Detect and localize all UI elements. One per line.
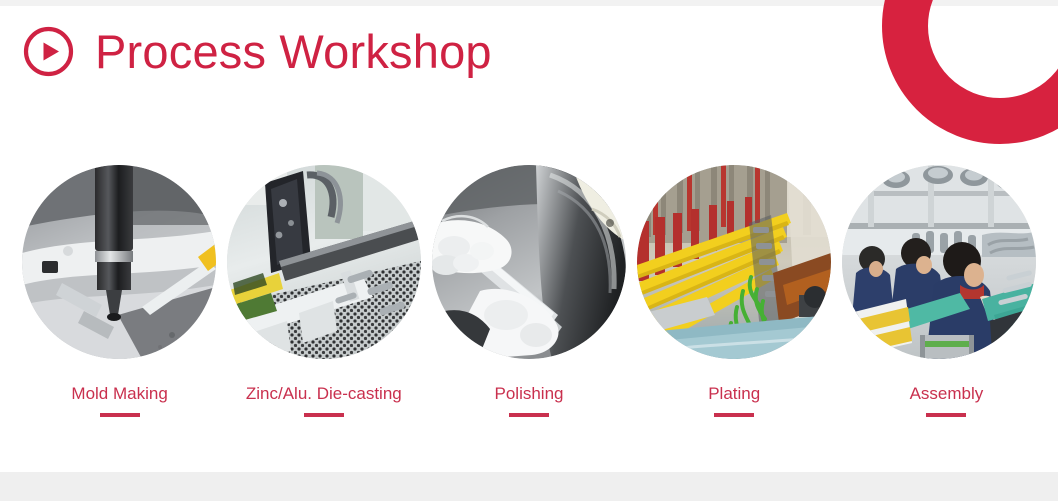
- process-step-underline: [100, 413, 140, 417]
- process-step-label: Plating: [708, 384, 760, 404]
- play-circle-icon[interactable]: [22, 25, 75, 78]
- process-step-assembly[interactable]: Assembly: [837, 165, 1042, 417]
- process-step-label: Polishing: [495, 384, 564, 404]
- process-step-image-mold-making: [22, 165, 216, 359]
- process-step-image-polishing: [432, 165, 626, 359]
- process-steps-row: Mold Making: [0, 165, 1058, 417]
- page-title: Process Workshop: [95, 28, 492, 75]
- process-step-underline: [714, 413, 754, 417]
- process-step-underline: [509, 413, 549, 417]
- process-step-die-casting[interactable]: Zinc/Alu. Die-casting: [221, 165, 426, 417]
- process-step-image-die-casting: [227, 165, 421, 359]
- process-step-polishing[interactable]: Polishing: [426, 165, 631, 417]
- page-header: Process Workshop: [22, 25, 492, 78]
- process-step-plating[interactable]: Plating: [632, 165, 837, 417]
- process-step-mold-making[interactable]: Mold Making: [16, 165, 221, 417]
- process-step-underline: [304, 413, 344, 417]
- process-step-label: Mold Making: [71, 384, 167, 404]
- process-step-underline: [926, 413, 966, 417]
- process-step-label: Zinc/Alu. Die-casting: [246, 384, 402, 404]
- footer-band: [0, 472, 1058, 501]
- corner-arc-decoration: [882, 0, 1058, 144]
- process-step-label: Assembly: [910, 384, 984, 404]
- process-step-image-plating: [637, 165, 831, 359]
- process-step-image-assembly: [842, 165, 1036, 359]
